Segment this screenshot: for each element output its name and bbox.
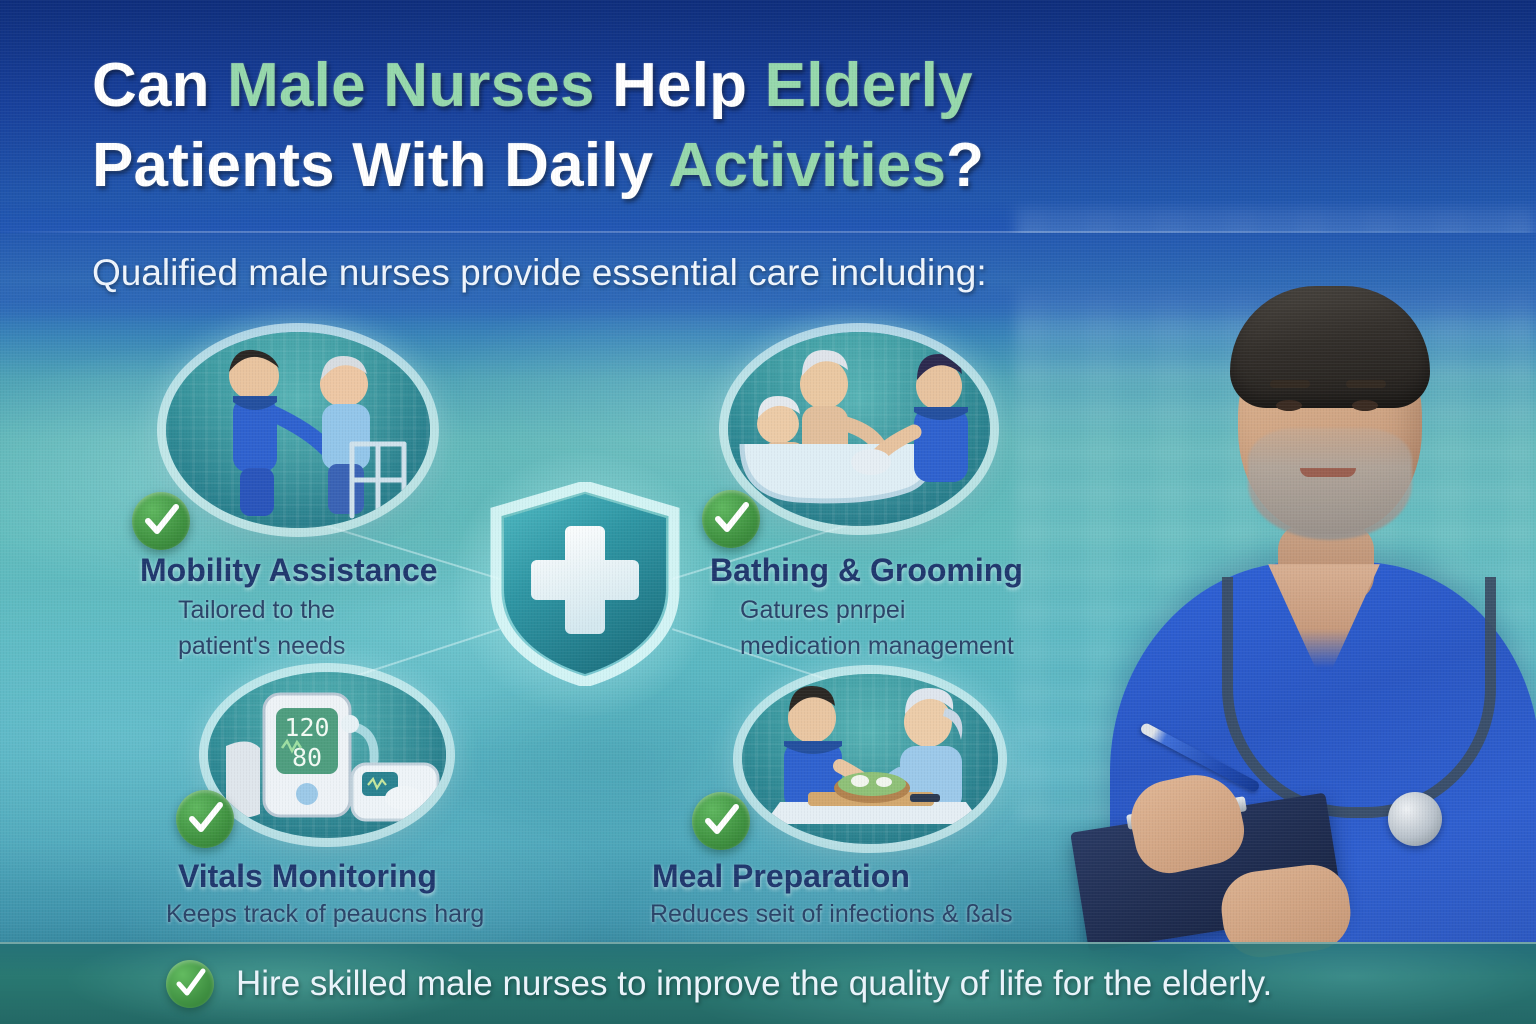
feature-desc-line1: Keeps track of peaucns harg: [166, 896, 484, 932]
nurse-eyebrow-left: [1270, 380, 1310, 388]
feature-mobility-assistance[interactable]: [166, 332, 430, 528]
feature-image-bathing: [728, 332, 990, 526]
feature-desc-line1: Reduces seit of infections & ßals: [650, 896, 1013, 932]
feature-desc-vitals: Keeps track of peaucns harg: [166, 896, 484, 932]
feature-desc-line2: patient's needs: [178, 628, 345, 664]
feature-desc-line2: medication management: [740, 628, 1014, 664]
feature-image-mobility: [166, 332, 430, 528]
feature-meal-preparation[interactable]: [742, 674, 998, 844]
feature-desc-bathing: Gatures pnrpei medication management: [740, 592, 1014, 664]
check-badge-banner: [166, 960, 214, 1008]
check-badge-bathing: [702, 490, 760, 548]
stethoscope-icon: [1222, 577, 1496, 818]
check-icon: [184, 798, 226, 840]
check-badge-mobility: [132, 492, 190, 550]
check-badge-meal: [692, 792, 750, 850]
check-icon: [140, 500, 182, 542]
feature-vitals-monitoring[interactable]: 120 80: [208, 672, 446, 838]
title-accent-elderly: Elderly: [765, 51, 973, 120]
feature-image-vitals: 120 80: [208, 672, 446, 838]
feature-image-meal: [742, 674, 998, 844]
check-icon: [172, 966, 208, 1002]
feature-desc-line1: Gatures pnrpei: [740, 592, 1014, 628]
nurse-hair: [1230, 286, 1430, 408]
title-question-mark: ?: [946, 131, 984, 200]
vitals-diastolic-value: 80: [292, 743, 322, 772]
stethoscope-bell: [1388, 792, 1442, 846]
feature-desc-meal: Reduces seit of infections & ßals: [650, 896, 1013, 932]
feature-title-bathing: Bathing & Grooming: [710, 552, 1023, 589]
feature-title-mobility: Mobility Assistance: [140, 552, 438, 589]
shield-medical-cross-icon: [488, 482, 682, 686]
banner-text: Hire skilled male nurses to improve the …: [236, 964, 1272, 1004]
feature-bathing-grooming[interactable]: [728, 332, 990, 526]
nurse-eye-left: [1276, 400, 1302, 411]
nurse-beard: [1248, 428, 1412, 540]
title-segment-3: Patients With Daily: [92, 131, 668, 200]
feature-title-meal: Meal Preparation: [652, 858, 910, 895]
title-accent-activities: Activities: [668, 131, 946, 200]
vitals-systolic-value: 120: [284, 713, 329, 742]
nurse-mouth: [1300, 468, 1356, 477]
check-icon: [700, 800, 742, 842]
feature-desc-line1: Tailored to the: [178, 592, 345, 628]
title-segment-1: Can: [92, 51, 227, 120]
bottom-cta-banner[interactable]: Hire skilled male nurses to improve the …: [0, 942, 1536, 1024]
title-segment-2: Help: [595, 51, 765, 120]
feature-title-vitals: Vitals Monitoring: [178, 858, 437, 895]
check-icon: [710, 498, 752, 540]
central-shield: [488, 482, 682, 686]
nurse-eye-right: [1352, 400, 1378, 411]
infographic-poster: Can Male Nurses Help Elderly Patients Wi…: [0, 0, 1536, 1024]
nurse-eyebrow-right: [1346, 380, 1386, 388]
nurse-photo: [1072, 232, 1536, 1024]
feature-desc-mobility: Tailored to the patient's needs: [178, 592, 345, 664]
subtitle: Qualified male nurses provide essential …: [92, 250, 987, 296]
page-title: Can Male Nurses Help Elderly Patients Wi…: [92, 46, 1092, 206]
check-badge-vitals: [176, 790, 234, 848]
title-accent-male-nurses: Male Nurses: [227, 51, 594, 120]
